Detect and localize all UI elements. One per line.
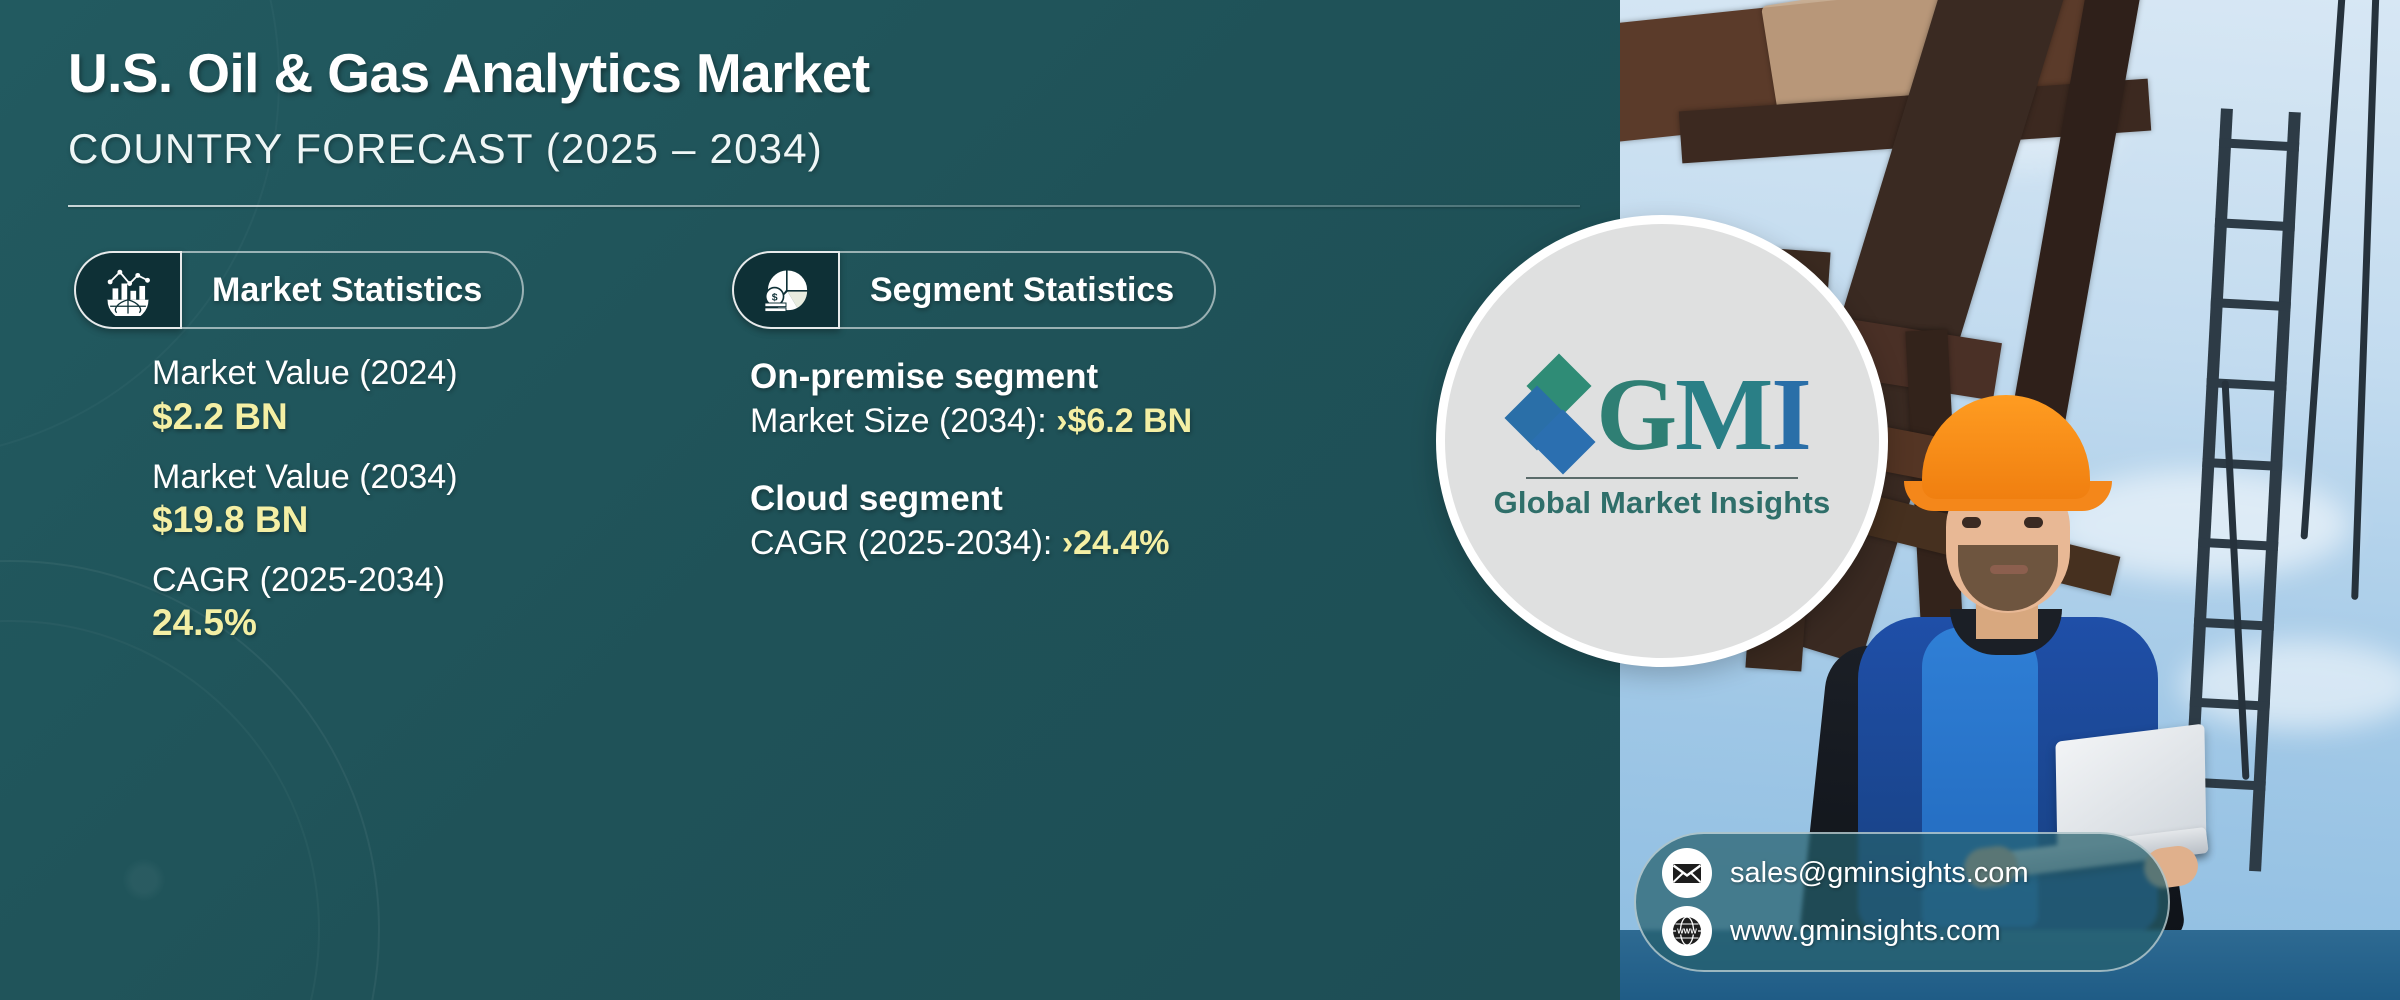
segment-metric-label: Market Size (2034):: [750, 402, 1056, 440]
worker-eye: [2024, 517, 2043, 528]
worker-eye: [1962, 517, 1981, 528]
rig-cable: [2300, 0, 2346, 540]
logo-letter-i: I: [1771, 363, 1809, 467]
logo-letter-m: M: [1675, 363, 1771, 467]
worker-mouth: [1990, 565, 2028, 574]
logo-tagline: Global Market Insights: [1494, 485, 1831, 521]
orange-hard-hat-icon: [1922, 395, 2090, 499]
stat-value: 24.5%: [152, 600, 694, 645]
segment-heading: On-premise segment: [750, 355, 1552, 399]
market-statistics-items: Market Value (2024) $2.2 BN Market Value…: [74, 353, 694, 645]
contact-bar: sales@gminsights.com WWW www.gminsights.…: [1634, 832, 2170, 972]
page-subtitle: COUNTRY FORECAST (2025 – 2034): [68, 125, 1560, 173]
stat-value: $19.8 BN: [152, 497, 694, 542]
rig-cable: [2351, 0, 2380, 600]
logo-mark: GMI: [1514, 361, 1810, 469]
stat-item: CAGR (2025-2034) 24.5%: [152, 560, 694, 645]
logo-divider: [1526, 477, 1798, 479]
market-statistics-pill: Market Statistics: [74, 251, 524, 329]
stat-item: Market Value (2034) $19.8 BN: [152, 457, 694, 542]
market-statistics-column: Market Statistics Market Value (2024) $2…: [74, 251, 694, 663]
segment-metric-row: CAGR (2025-2034): ›24.4%: [750, 521, 1552, 565]
segment-heading: Cloud segment: [750, 477, 1552, 521]
stat-label: Market Value (2024): [152, 353, 694, 393]
globe-www-icon: WWW: [1662, 906, 1712, 956]
segment-metric-value: ›$6.2 BN: [1056, 402, 1192, 440]
left-content-panel: U.S. Oil & Gas Analytics Market COUNTRY …: [0, 0, 1620, 1000]
page-title: U.S. Oil & Gas Analytics Market: [68, 44, 1560, 103]
stat-label: Market Value (2034): [152, 457, 694, 497]
segment-statistics-pill: $ Segment Statistics: [732, 251, 1216, 329]
header-divider: [68, 205, 1580, 207]
stat-item: Market Value (2024) $2.2 BN: [152, 353, 694, 438]
envelope-icon: [1662, 848, 1712, 898]
svg-text:$: $: [772, 292, 778, 304]
segment-statistics-items: On-premise segment Market Size (2034): ›…: [732, 355, 1552, 565]
contact-website: www.gminsights.com: [1730, 915, 2001, 948]
globe-bar-chart-icon: [74, 251, 182, 329]
segment-statistics-column: $ Segment Statistics On-premise segment …: [732, 251, 1552, 599]
diamond-icon: [1514, 361, 1590, 469]
contact-email-row[interactable]: sales@gminsights.com: [1662, 848, 2142, 898]
segment-metric-row: Market Size (2034): ›$6.2 BN: [750, 399, 1552, 443]
infographic-canvas: U.S. Oil & Gas Analytics Market COUNTRY …: [0, 0, 2400, 1000]
contact-website-row[interactable]: WWW www.gminsights.com: [1662, 906, 2142, 956]
segment-item: Cloud segment CAGR (2025-2034): ›24.4%: [750, 477, 1552, 565]
segment-metric-label: CAGR (2025-2034):: [750, 524, 1062, 562]
logo-letter-g: G: [1596, 363, 1675, 467]
logo-wordmark: GMI: [1596, 363, 1810, 467]
segment-item: On-premise segment Market Size (2034): ›…: [750, 355, 1552, 443]
pie-chart-money-icon: $: [732, 251, 840, 329]
stat-value: $2.2 BN: [152, 394, 694, 439]
contact-email: sales@gminsights.com: [1730, 857, 2029, 890]
svg-text:WWW: WWW: [1677, 929, 1697, 936]
segment-metric-value: ›24.4%: [1062, 524, 1170, 562]
market-statistics-label: Market Statistics: [182, 251, 524, 329]
stat-label: CAGR (2025-2034): [152, 560, 694, 600]
gmi-logo: GMI Global Market Insights: [1436, 215, 1888, 667]
segment-statistics-label: Segment Statistics: [840, 251, 1216, 329]
